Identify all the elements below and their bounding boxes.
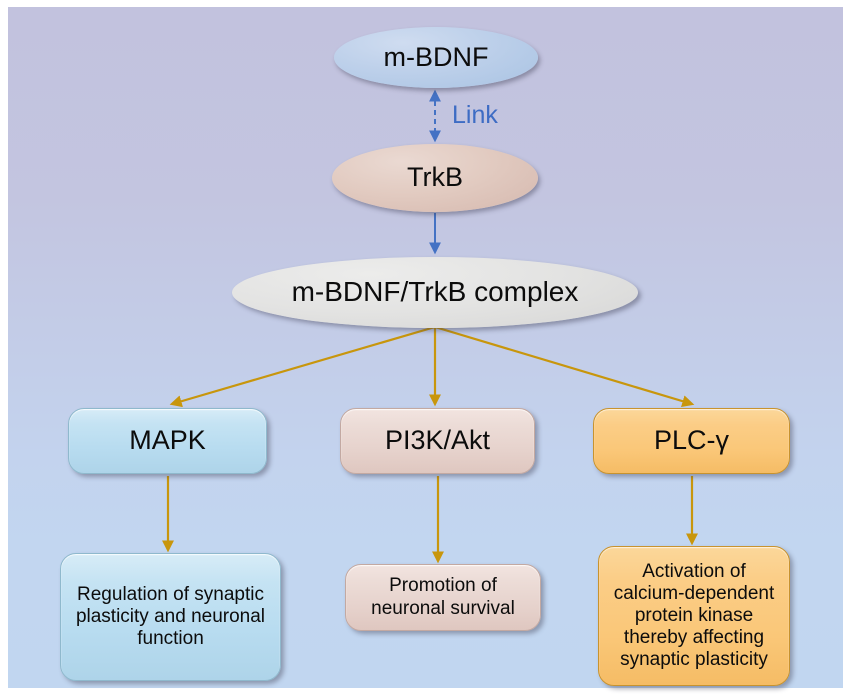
- node-m-bdnf-trkb-complex[interactable]: m-BDNF/TrkB complex: [232, 257, 638, 328]
- node-plc-gamma[interactable]: PLC-γ: [593, 408, 790, 474]
- node-outcome-pi3k-akt[interactable]: Promotion of neuronal survival: [345, 564, 541, 631]
- node-plc-gamma-label: PLC-γ: [654, 425, 729, 456]
- node-trkb[interactable]: TrkB: [332, 144, 538, 212]
- node-pi3k-akt[interactable]: PI3K/Akt: [340, 408, 535, 474]
- node-outcome-mapk-label: Regulation of synaptic plasticity and ne…: [70, 582, 271, 652]
- diagram-canvas: Link m-BDNF TrkB m-BDNF/TrkB complex MAP…: [0, 0, 851, 696]
- node-outcome-plc-gamma[interactable]: Activation of calcium-dependent protein …: [598, 546, 790, 686]
- node-complex-label: m-BDNF/TrkB complex: [292, 276, 579, 308]
- node-mapk[interactable]: MAPK: [68, 408, 267, 474]
- node-outcome-plc-gamma-label: Activation of calcium-dependent protein …: [608, 559, 781, 673]
- node-outcome-pi3k-akt-label: Promotion of neuronal survival: [365, 573, 521, 621]
- edge-label-link: Link: [452, 101, 498, 130]
- node-mapk-label: MAPK: [129, 425, 206, 456]
- node-trkb-label: TrkB: [407, 162, 463, 193]
- node-m-bdnf[interactable]: m-BDNF: [334, 27, 538, 88]
- node-m-bdnf-label: m-BDNF: [384, 42, 489, 73]
- node-outcome-mapk[interactable]: Regulation of synaptic plasticity and ne…: [60, 553, 281, 681]
- node-pi3k-akt-label: PI3K/Akt: [385, 425, 490, 456]
